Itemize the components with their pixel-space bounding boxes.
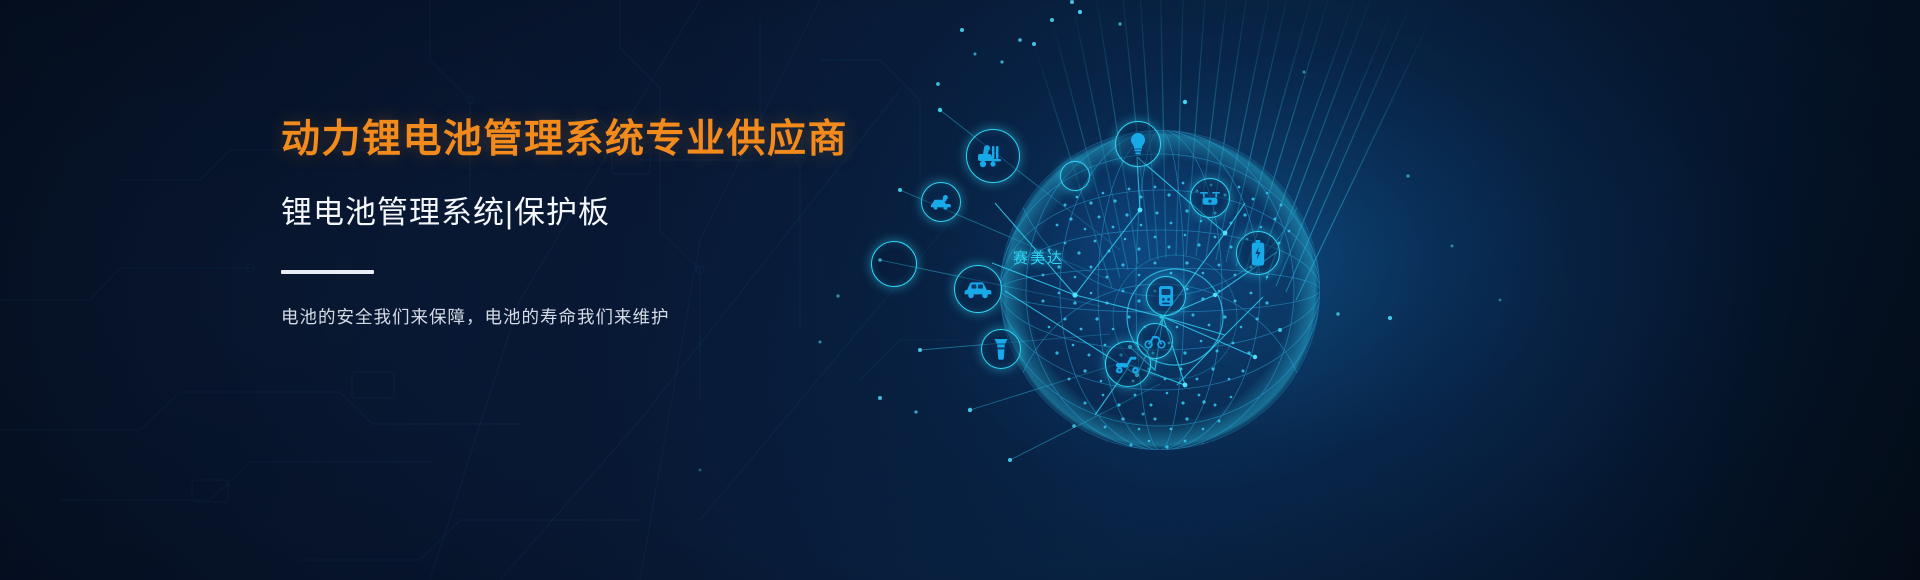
ebike-icon: [1144, 333, 1166, 349]
empty-ring-node: [1060, 161, 1090, 191]
lightbulb-icon: [1129, 132, 1147, 156]
ebike-node: [1137, 323, 1173, 359]
scooter-icon: [1114, 354, 1142, 374]
forklift-node: [966, 129, 1020, 183]
hero-banner: 赛美达 动力锂电池管理系统专业供应商 锂电池管理系统|保护板 电池的安全我们来保…: [0, 0, 1920, 580]
charger-icon: [1157, 285, 1175, 307]
battery-node: [1236, 231, 1280, 275]
sedan-node: [954, 265, 1002, 313]
globe-center-label: 赛美达: [1013, 247, 1064, 268]
light-rays: [820, 0, 1520, 520]
car-top-node: [921, 182, 961, 222]
page-tagline: 电池的安全我们来保障，电池的寿命我们来维护: [281, 274, 901, 327]
charger-node: [1146, 276, 1186, 316]
hero-copy: 动力锂电池管理系统专业供应商 锂电池管理系统|保护板 电池的安全我们来保障，电池…: [281, 120, 901, 327]
forklift-icon: [978, 144, 1008, 168]
page-title: 动力锂电池管理系统专业供应商: [281, 120, 901, 159]
drone-node: [1190, 178, 1230, 218]
drone-icon: [1198, 189, 1222, 207]
page-subtitle: 锂电池管理系统|保护板: [281, 159, 901, 228]
battery-icon: [1251, 240, 1265, 266]
lightbulb-node: [1115, 121, 1161, 167]
flashlight-node: [981, 329, 1021, 369]
car-icon: [930, 194, 952, 210]
flashlight-icon: [991, 338, 1011, 360]
sedan-icon: [963, 279, 993, 299]
